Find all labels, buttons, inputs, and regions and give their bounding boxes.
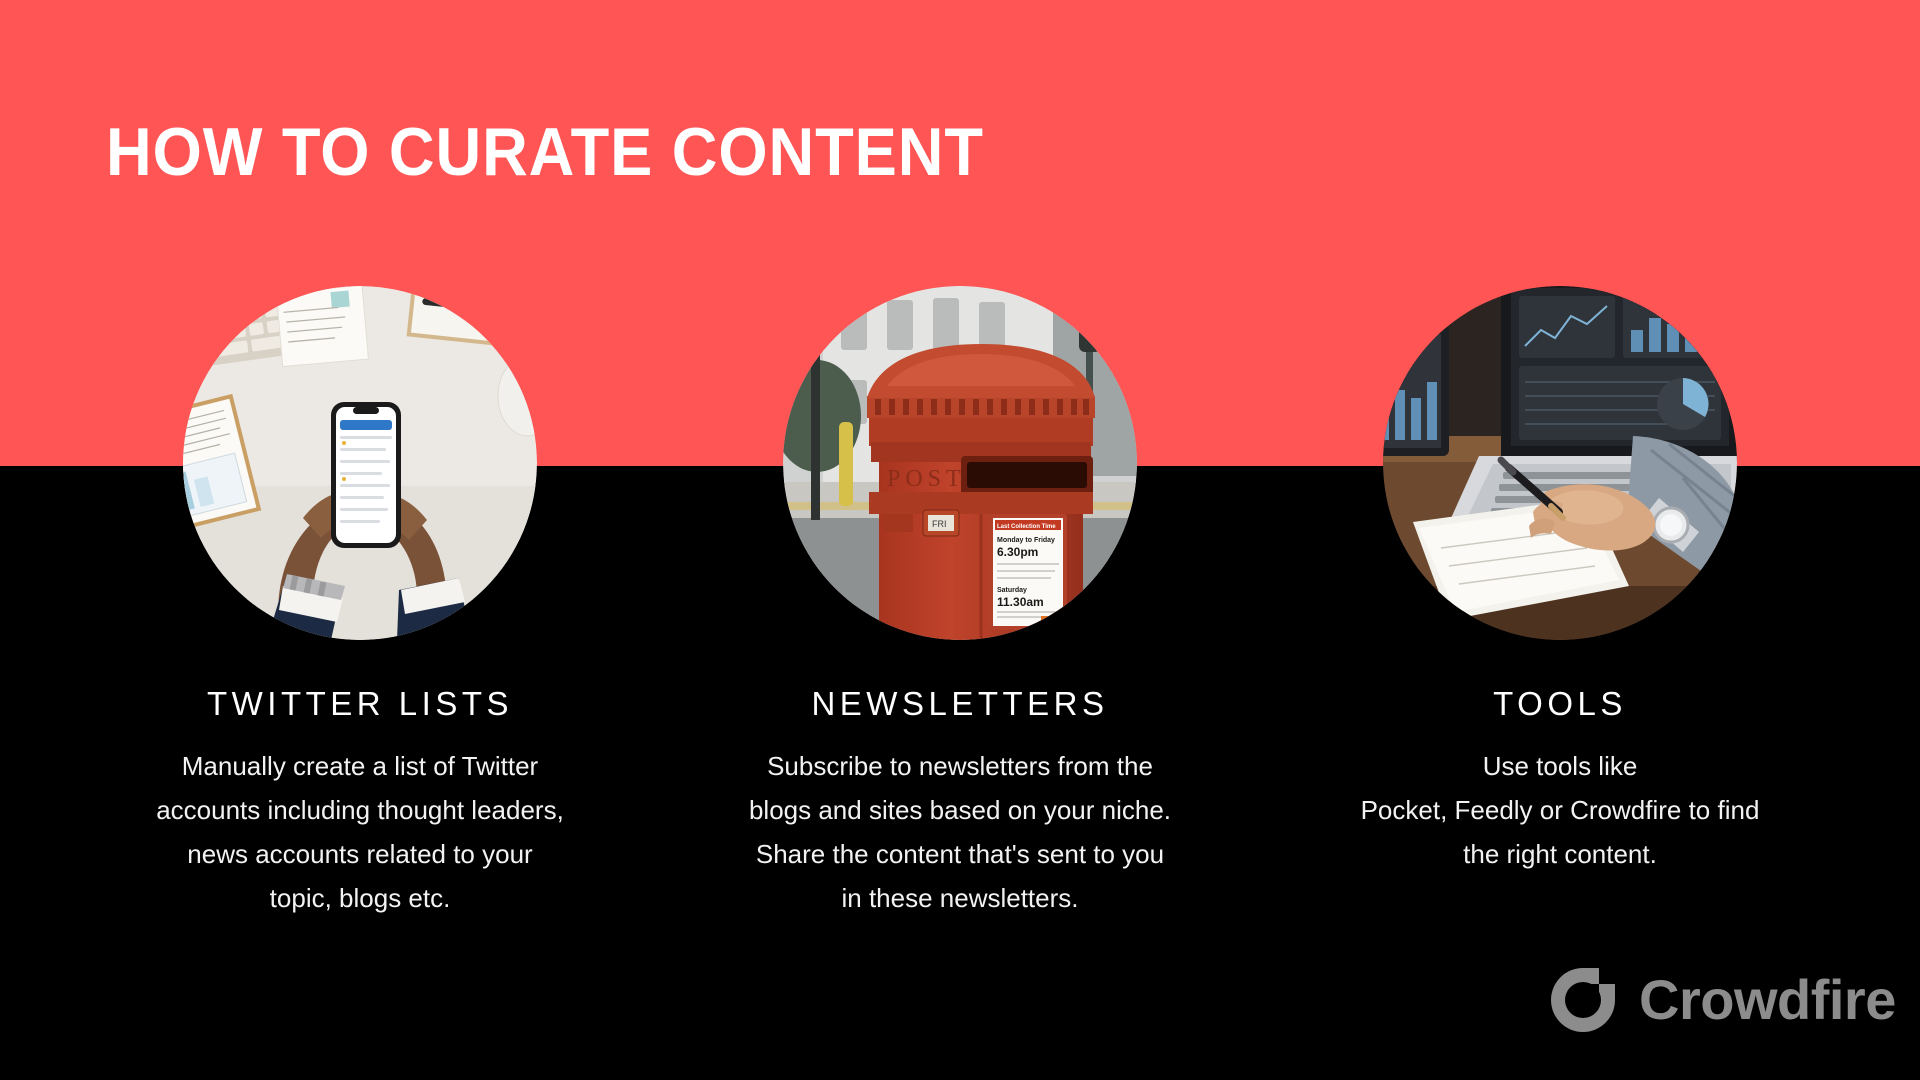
column-heading: TOOLS [1280,686,1840,722]
crowdfire-logo-mark [1545,962,1621,1038]
image-hand-writing-notes-laptop [1383,286,1737,640]
column-heading: NEWSLETTERS [680,686,1240,722]
body-line: Use tools like [1298,744,1822,788]
body-line: in these newsletters. [698,876,1222,920]
image-red-post-box: POST FRI [783,286,1137,640]
column-twitter-lists: TWITTER LISTS Manually create a list of … [80,286,640,920]
svg-text:6.30pm: 6.30pm [997,545,1038,559]
infographic-canvas: HOW TO CURATE CONTENT [0,0,1920,1080]
body-line: topic, blogs etc. [98,876,622,920]
column-body: Use tools like Pocket, Feedly or Crowdfi… [1280,744,1840,876]
body-line: blogs and sites based on your niche. [698,788,1222,832]
svg-text:Monday to Friday: Monday to Friday [997,537,1055,544]
body-line: Share the content that's sent to you [698,832,1222,876]
columns-container: TWITTER LISTS Manually create a list of … [0,0,1920,1080]
body-line: accounts including thought leaders, [98,788,622,832]
svg-text:POST: POST [887,466,966,492]
body-line: Manually create a list of Twitter [98,744,622,788]
body-line: news accounts related to your [98,832,622,876]
image-hands-holding-phone-on-desk [183,286,537,640]
column-body: Manually create a list of Twitter accoun… [80,744,640,920]
column-tools: TOOLS Use tools like Pocket, Feedly or C… [1280,286,1840,876]
body-line: Pocket, Feedly or Crowdfire to find [1298,788,1822,832]
column-newsletters: POST FRI [680,286,1240,920]
column-heading: TWITTER LISTS [80,686,640,722]
svg-text:11.30am: 11.30am [997,595,1044,609]
svg-text:Last Collection Time: Last Collection Time [997,524,1056,530]
body-line: the right content. [1298,832,1822,876]
crowdfire-wordmark: Crowdfire [1639,972,1896,1028]
crowdfire-logo[interactable]: Crowdfire [1545,962,1896,1038]
svg-text:Saturday: Saturday [997,587,1027,594]
column-body: Subscribe to newsletters from the blogs … [680,744,1240,920]
svg-text:FRI: FRI [932,519,947,529]
body-line: Subscribe to newsletters from the [698,744,1222,788]
